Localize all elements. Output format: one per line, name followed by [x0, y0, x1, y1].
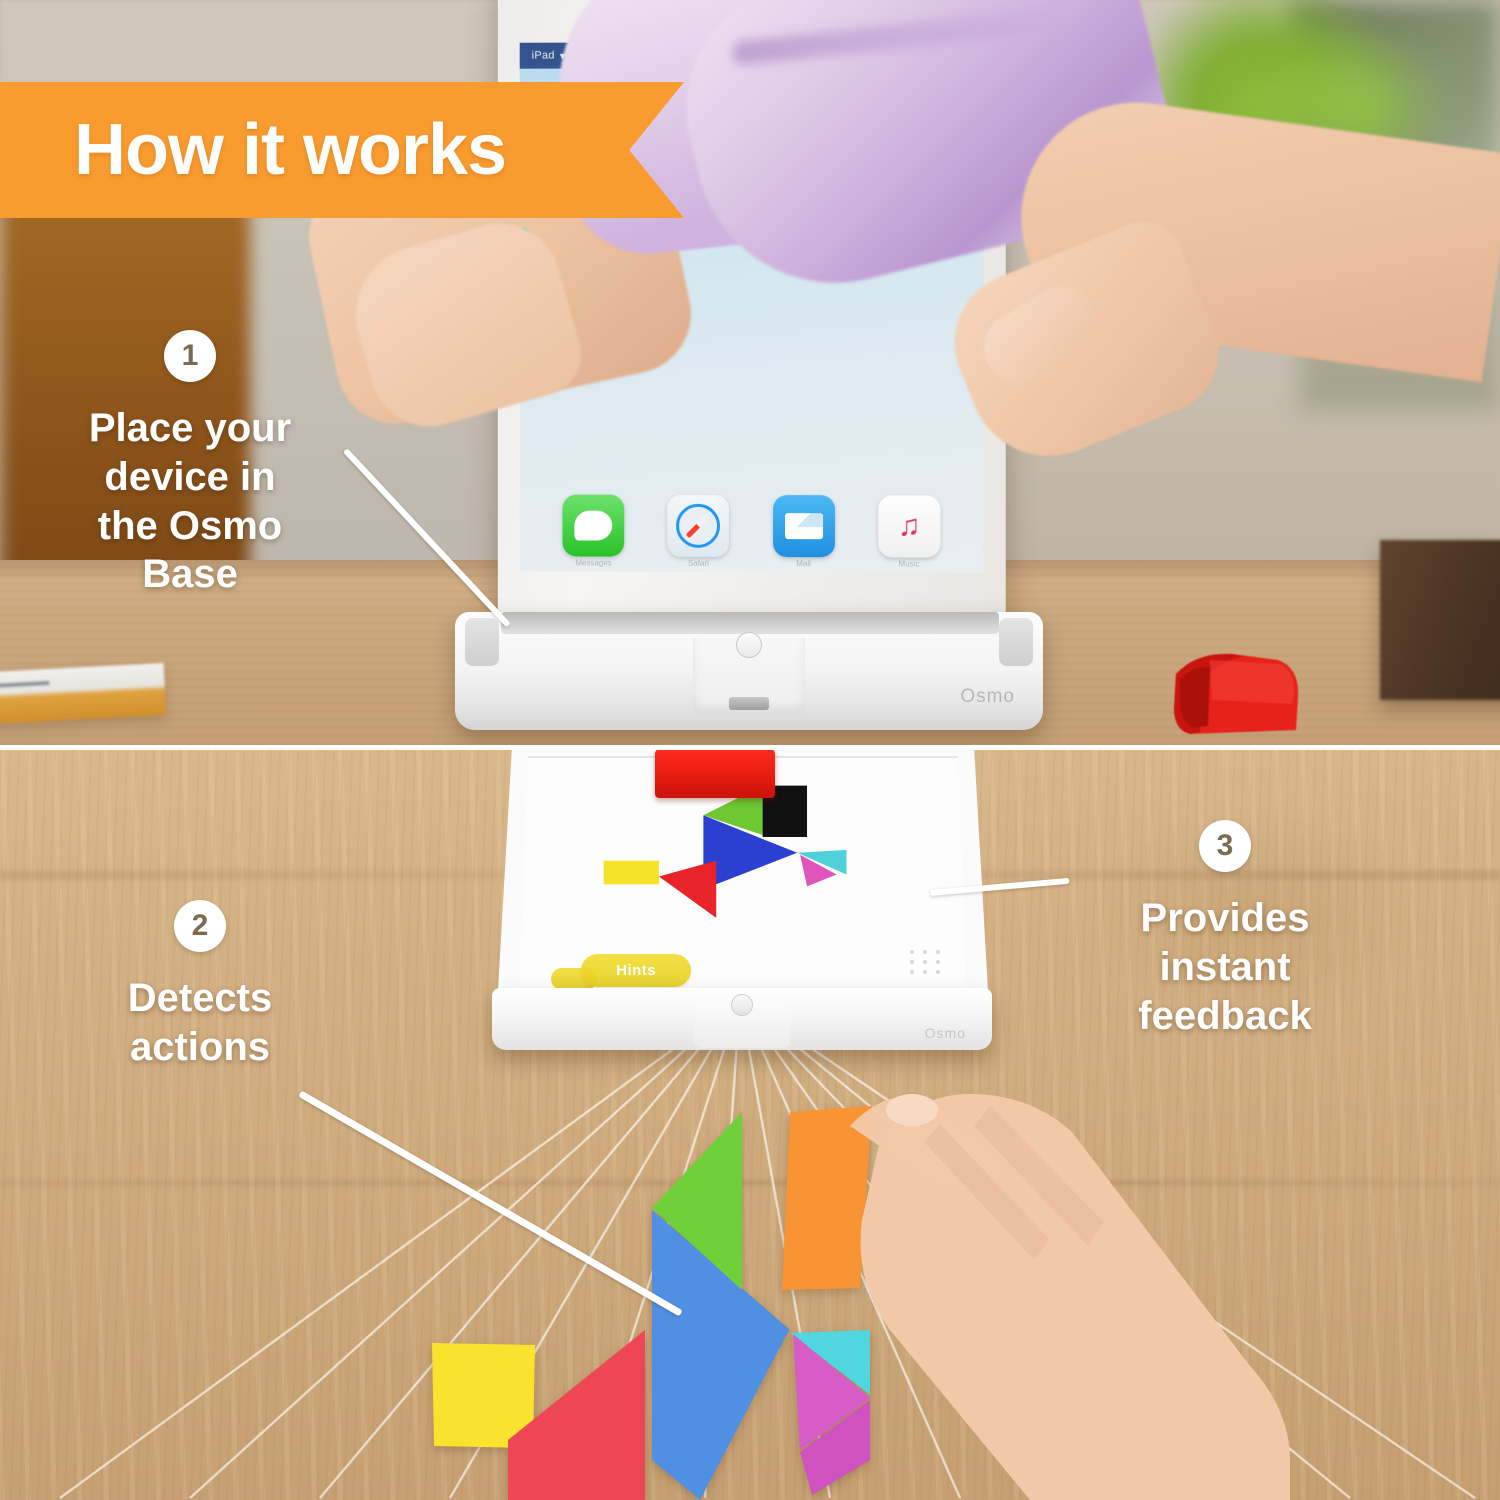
step-label-2: Detects actions	[70, 974, 330, 1072]
callout-step-1: 1 Place your device in the Osmo Base	[50, 330, 330, 599]
ipad-home-button[interactable]	[736, 632, 762, 658]
notebook-line	[0, 681, 50, 689]
wooden-box	[1380, 540, 1500, 700]
carrier-label: iPad	[532, 50, 555, 62]
sleeve-fold	[731, 8, 1062, 66]
callout-step-2: 2 Detects actions	[70, 900, 330, 1072]
dock-item-mail[interactable]: Mail	[773, 495, 835, 568]
child-hand-bottom	[820, 1080, 1480, 1500]
osmo-brand-label: Osmo	[960, 686, 1015, 708]
notebook	[0, 663, 166, 725]
step-badge-3: 3	[1199, 820, 1251, 872]
dock-label-messages: Messages	[563, 558, 625, 567]
dock-item-music[interactable]: ♫ Music	[878, 495, 940, 568]
dock-label-mail: Mail	[773, 559, 835, 568]
dock-label-safari: Safari	[667, 559, 729, 568]
lightning-connector	[729, 697, 769, 710]
banner-title: How it works	[0, 109, 506, 191]
step-badge-2: 2	[174, 900, 226, 952]
step-label-1: Place your device in the Osmo Base	[50, 404, 330, 599]
base-device-slot	[501, 612, 999, 634]
callout-step-3: 3 Provides instant feedback	[1075, 820, 1375, 1040]
step-badge-1: 1	[164, 330, 216, 382]
dock-item-messages[interactable]: Messages	[563, 495, 625, 568]
base-cap-right	[999, 618, 1033, 666]
mail-icon[interactable]	[773, 495, 835, 557]
ipad-dock: Messages Safari Mail	[520, 494, 984, 568]
music-icon[interactable]: ♫	[878, 495, 940, 557]
how-it-works-banner: How it works	[0, 82, 684, 218]
red-reflector-icon	[1150, 650, 1305, 740]
step-label-3: Provides instant feedback	[1075, 894, 1375, 1040]
safari-icon[interactable]	[667, 495, 729, 557]
messages-icon[interactable]	[563, 495, 625, 557]
dock-item-safari[interactable]: Safari	[667, 495, 729, 568]
osmo-base-top[interactable]: Osmo	[455, 612, 1043, 730]
photo-divider	[0, 745, 1500, 750]
dock-label-music: Music	[878, 559, 940, 568]
how-it-works-infographic: iPad ▾ 7:19 PM Messages	[0, 0, 1500, 1500]
base-cap-left	[465, 618, 499, 666]
